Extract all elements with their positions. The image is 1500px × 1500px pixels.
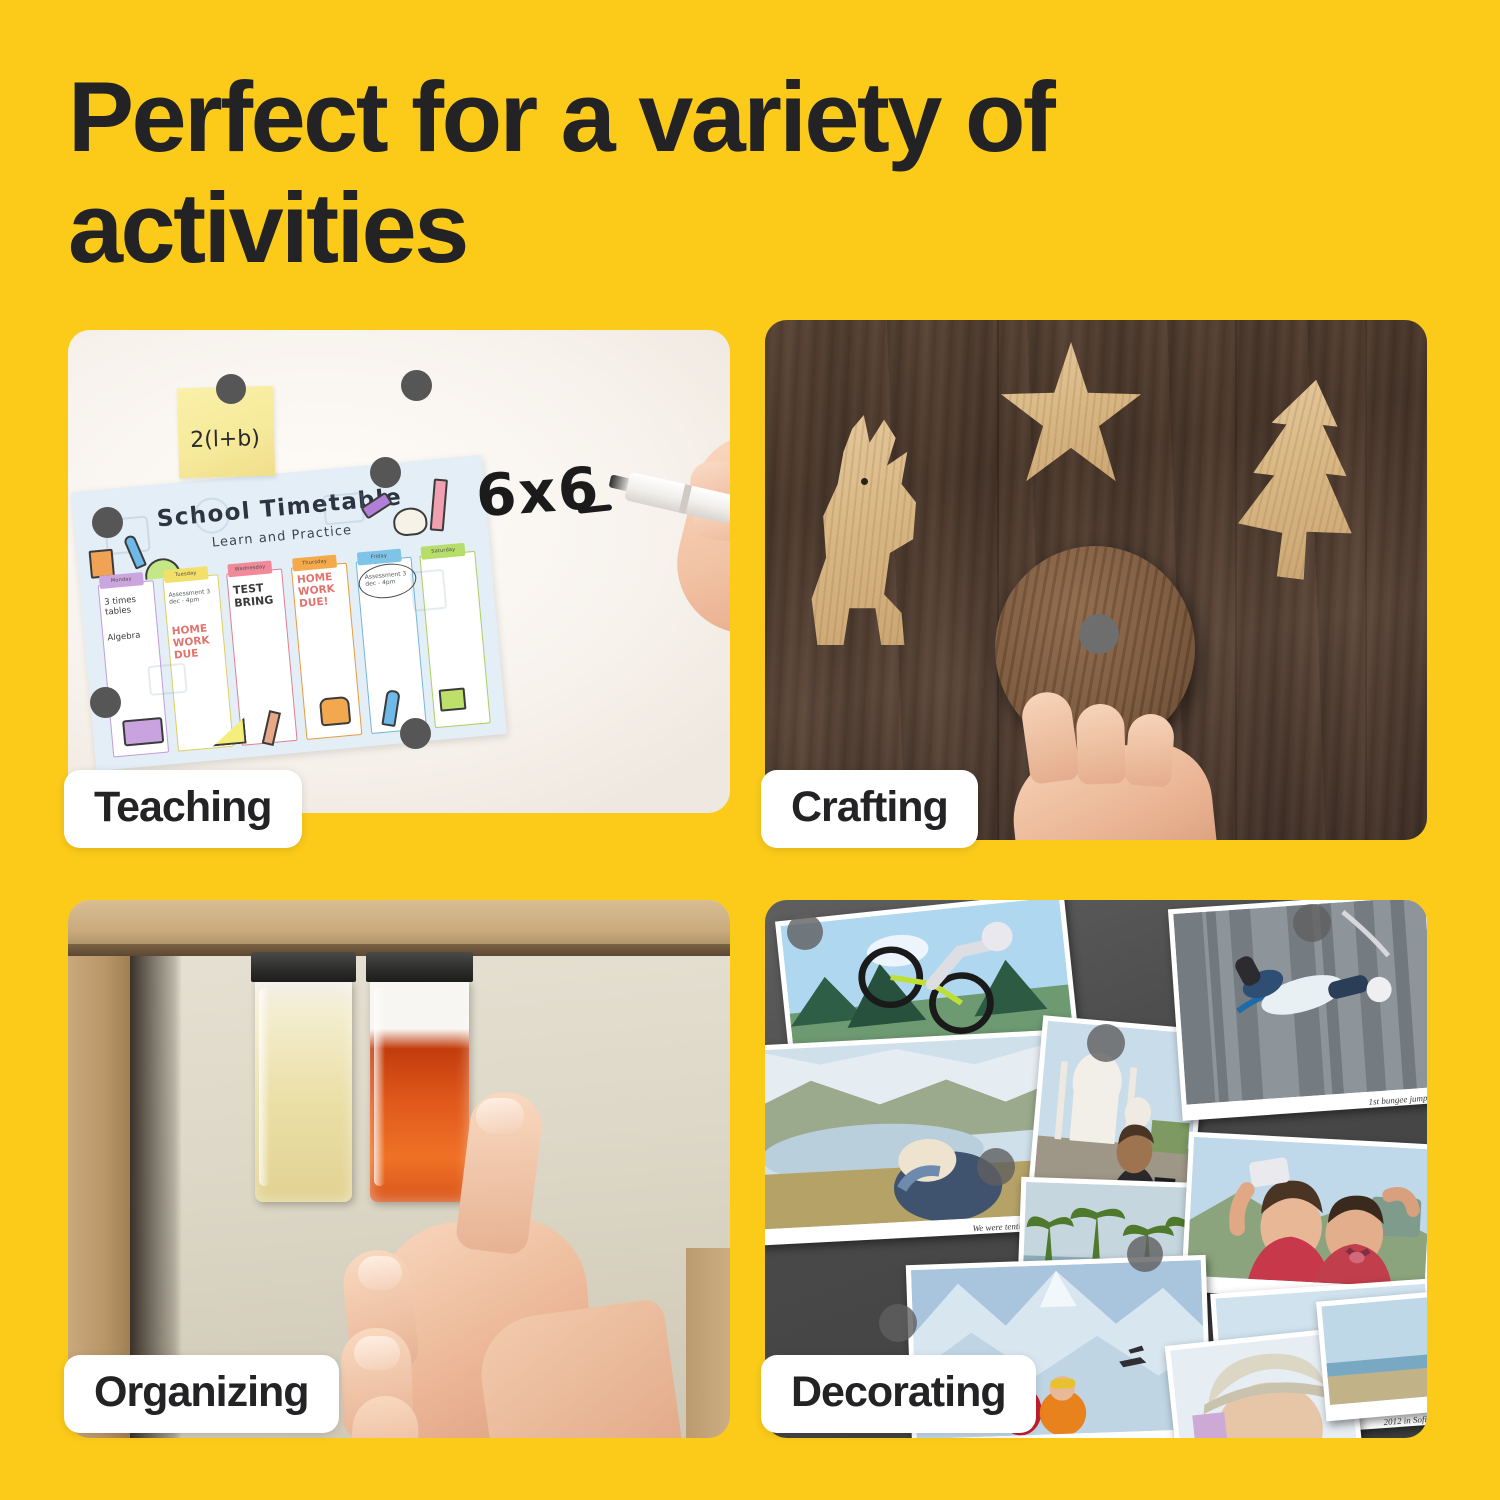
magnet-dot bbox=[977, 1148, 1015, 1186]
magnet-dot bbox=[92, 507, 123, 538]
magnet-dot bbox=[1087, 1024, 1125, 1062]
panel-label-organizing: Organizing bbox=[64, 1355, 339, 1433]
cabinet-frame-right bbox=[686, 1248, 730, 1438]
magnet-dot bbox=[401, 370, 432, 401]
magnet-dot bbox=[787, 914, 823, 950]
page-title: Perfect for a variety of activities bbox=[68, 62, 1328, 284]
panel-label-teaching: Teaching bbox=[64, 770, 302, 848]
reindeer-eye bbox=[861, 478, 868, 485]
panel-label-decorating: Decorating bbox=[761, 1355, 1036, 1433]
magnet-dot bbox=[879, 1304, 917, 1342]
board-handwriting: 6x6 bbox=[474, 454, 603, 530]
crafting-scene bbox=[765, 320, 1427, 840]
school-timetable-poster: School Timetable Learn and Practice Mond… bbox=[71, 455, 507, 771]
magnet-dot bbox=[1127, 1236, 1163, 1272]
day-note: HOME WORK DUE bbox=[171, 621, 222, 661]
photo-lake-camping: We were tenting here bbox=[765, 1030, 1056, 1245]
panel-crafting[interactable] bbox=[765, 320, 1427, 840]
panel-label-crafting: Crafting bbox=[761, 770, 978, 848]
photo-beach-pair bbox=[1316, 1291, 1427, 1422]
hand-reaching-for-jar bbox=[336, 1140, 636, 1438]
magnet-dot bbox=[1079, 614, 1119, 654]
timetable-day-tuesday: Tuesday Assessment 3 dec - 4pm HOME WORK… bbox=[161, 565, 234, 751]
day-note: 3 times tables bbox=[104, 593, 154, 618]
day-note: TEST BRING bbox=[232, 580, 282, 611]
day-note: HOME WORK DUE! bbox=[297, 570, 348, 610]
magnet-dot bbox=[370, 457, 401, 488]
timetable-day-wednesday: Wednesday TEST BRING bbox=[226, 559, 299, 745]
magnet-dot bbox=[90, 687, 121, 718]
photo-couple-selfie bbox=[1181, 1132, 1427, 1305]
teaching-scene: 2(l+b) School Timetable Learn and Practi… bbox=[68, 330, 730, 813]
panel-teaching[interactable]: 2(l+b) School Timetable Learn and Practi… bbox=[68, 330, 730, 813]
hand-holding-coaster bbox=[983, 692, 1233, 840]
magnet-dot bbox=[1293, 904, 1331, 942]
magnet-dot bbox=[216, 374, 246, 404]
magnet-dot bbox=[400, 718, 431, 749]
sticky-note-text: 2(l+b) bbox=[190, 426, 260, 453]
